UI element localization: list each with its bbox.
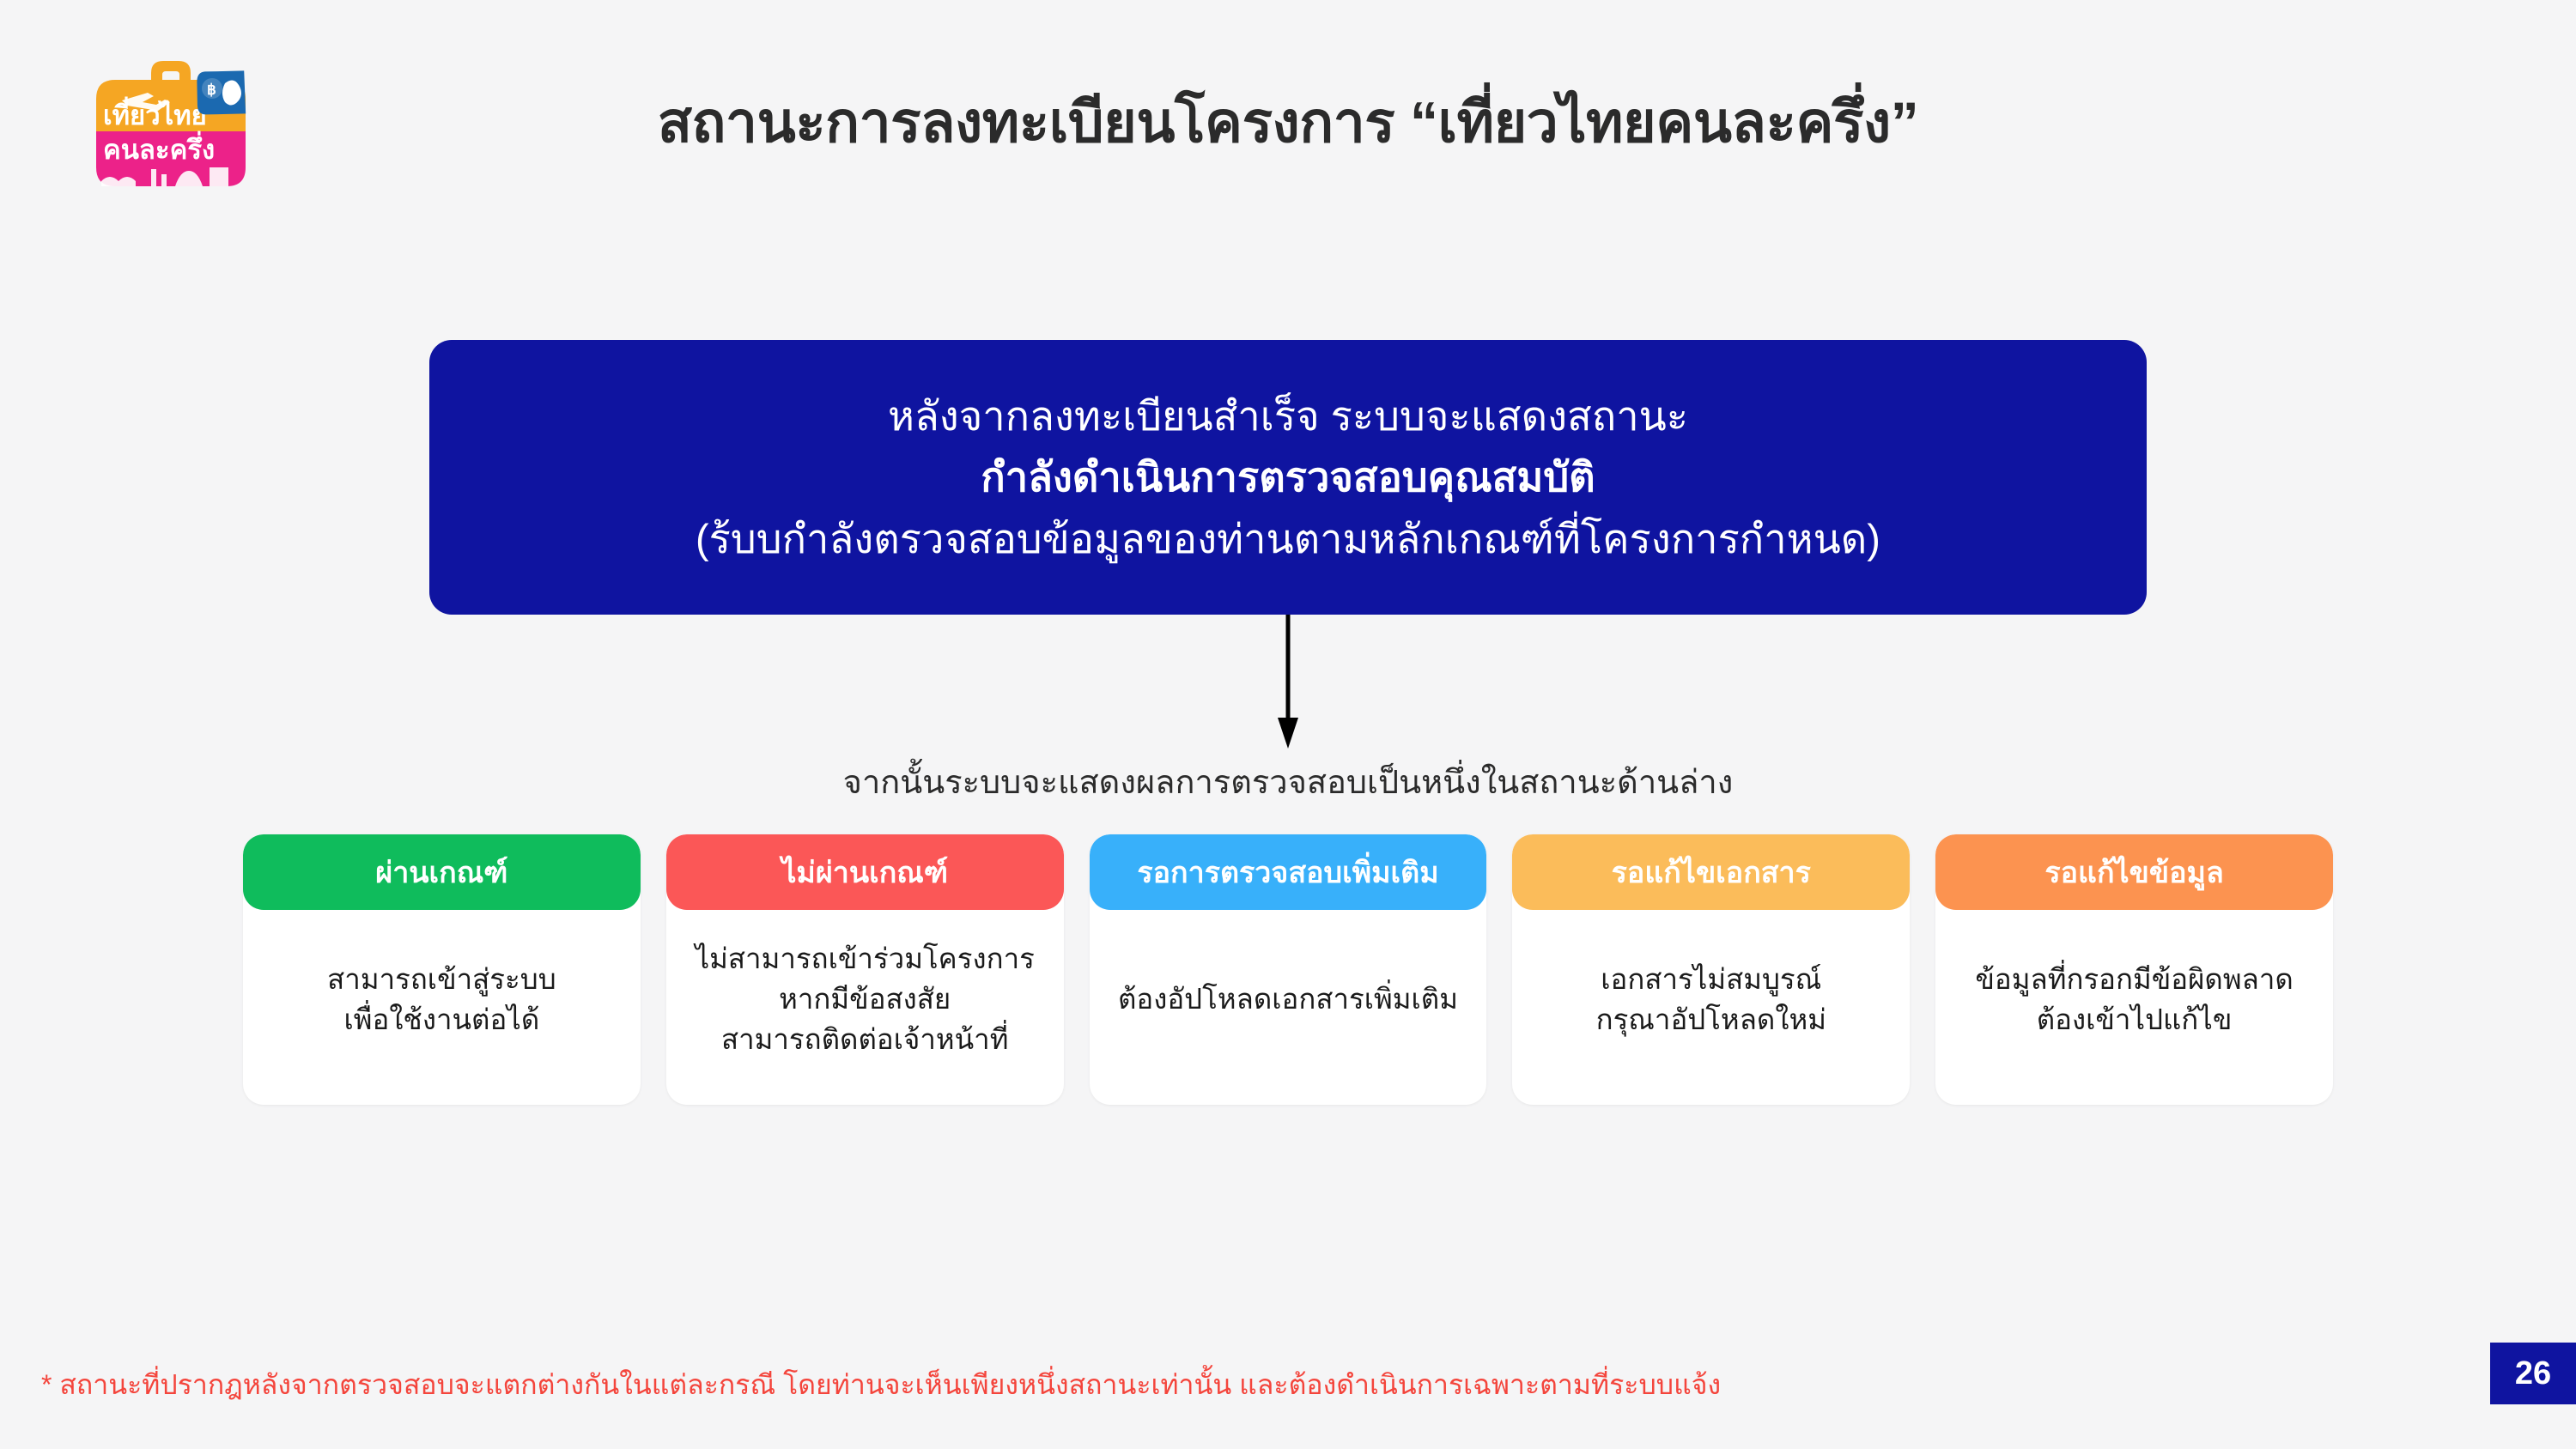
- status-badge: ผ่านเกณฑ์: [243, 834, 641, 910]
- status-card-failed[interactable]: ไม่ผ่านเกณฑ์ ไม่สามารถเข้าร่วมโครงการ หา…: [666, 834, 1064, 1105]
- status-callout-box: หลังจากลงทะเบียนสำเร็จ ระบบจะแสดงสถานะ ก…: [429, 340, 2147, 615]
- svg-text:เที่ยวไทย: เที่ยวไทย: [103, 96, 207, 130]
- status-description: ข้อมูลที่กรอกมีข้อผิดพลาด ต้องเข้าไปแก้ไ…: [1935, 910, 2333, 1105]
- status-description: สามารถเข้าสู่ระบบ เพื่อใช้งานต่อได้: [243, 910, 641, 1105]
- callout-line-1: หลังจากลงทะเบียนสำเร็จ ระบบจะแสดงสถานะ: [888, 385, 1688, 446]
- callout-line-2: กำลังดำเนินการตรวจสอบคุณสมบัติ: [981, 446, 1595, 507]
- svg-text:฿: ฿: [207, 82, 216, 98]
- status-description: ต้องอัปโหลดเอกสารเพิ่มเติม: [1090, 910, 1487, 1105]
- status-card-list: ผ่านเกณฑ์ สามารถเข้าสู่ระบบ เพื่อใช้งานต…: [243, 834, 2333, 1105]
- callout-line-3: (ร้บบกำลังตรวจสอบข้อมูลของท่านตามหลักเกณ…: [696, 508, 1880, 569]
- flow-caption: จากนั้นระบบจะแสดงผลการตรวจสอบเป็นหนึ่งใน…: [0, 755, 2576, 808]
- status-badge: รอการตรวจสอบเพิ่มเติม: [1090, 834, 1487, 910]
- status-description: ไม่สามารถเข้าร่วมโครงการ หากมีข้อสงสัย ส…: [666, 910, 1064, 1105]
- footer-note: * สถานะที่ปรากฎหลังจากตรวจสอบจะแตกต่างกั…: [41, 1363, 1721, 1407]
- status-card-fix-data[interactable]: รอแก้ไขข้อมูล ข้อมูลที่กรอกมีข้อผิดพลาด …: [1935, 834, 2333, 1105]
- status-badge: รอแก้ไขข้อมูล: [1935, 834, 2333, 910]
- status-badge: รอแก้ไขเอกสาร: [1512, 834, 1910, 910]
- page-title: สถานะการลงทะเบียนโครงการ “เที่ยวไทยคนละค…: [292, 90, 2284, 155]
- status-card-pending-review[interactable]: รอการตรวจสอบเพิ่มเติม ต้องอัปโหลดเอกสารเ…: [1090, 834, 1487, 1105]
- svg-text:คนละครึ่ง: คนละครึ่ง: [103, 130, 215, 165]
- brand-logo: เที่ยวไทย คนละครึ่ง ฿: [72, 47, 270, 197]
- status-card-passed[interactable]: ผ่านเกณฑ์ สามารถเข้าสู่ระบบ เพื่อใช้งานต…: [243, 834, 641, 1105]
- logo-artwork: เที่ยวไทย คนละครึ่ง ฿: [72, 47, 270, 197]
- down-arrow-icon: [1273, 615, 1303, 752]
- page-number-badge: 26: [2490, 1343, 2576, 1404]
- status-badge: ไม่ผ่านเกณฑ์: [666, 834, 1064, 910]
- status-description: เอกสารไม่สมบูรณ์ กรุณาอัปโหลดใหม่: [1512, 910, 1910, 1105]
- status-card-fix-documents[interactable]: รอแก้ไขเอกสาร เอกสารไม่สมบูรณ์ กรุณาอัปโ…: [1512, 834, 1910, 1105]
